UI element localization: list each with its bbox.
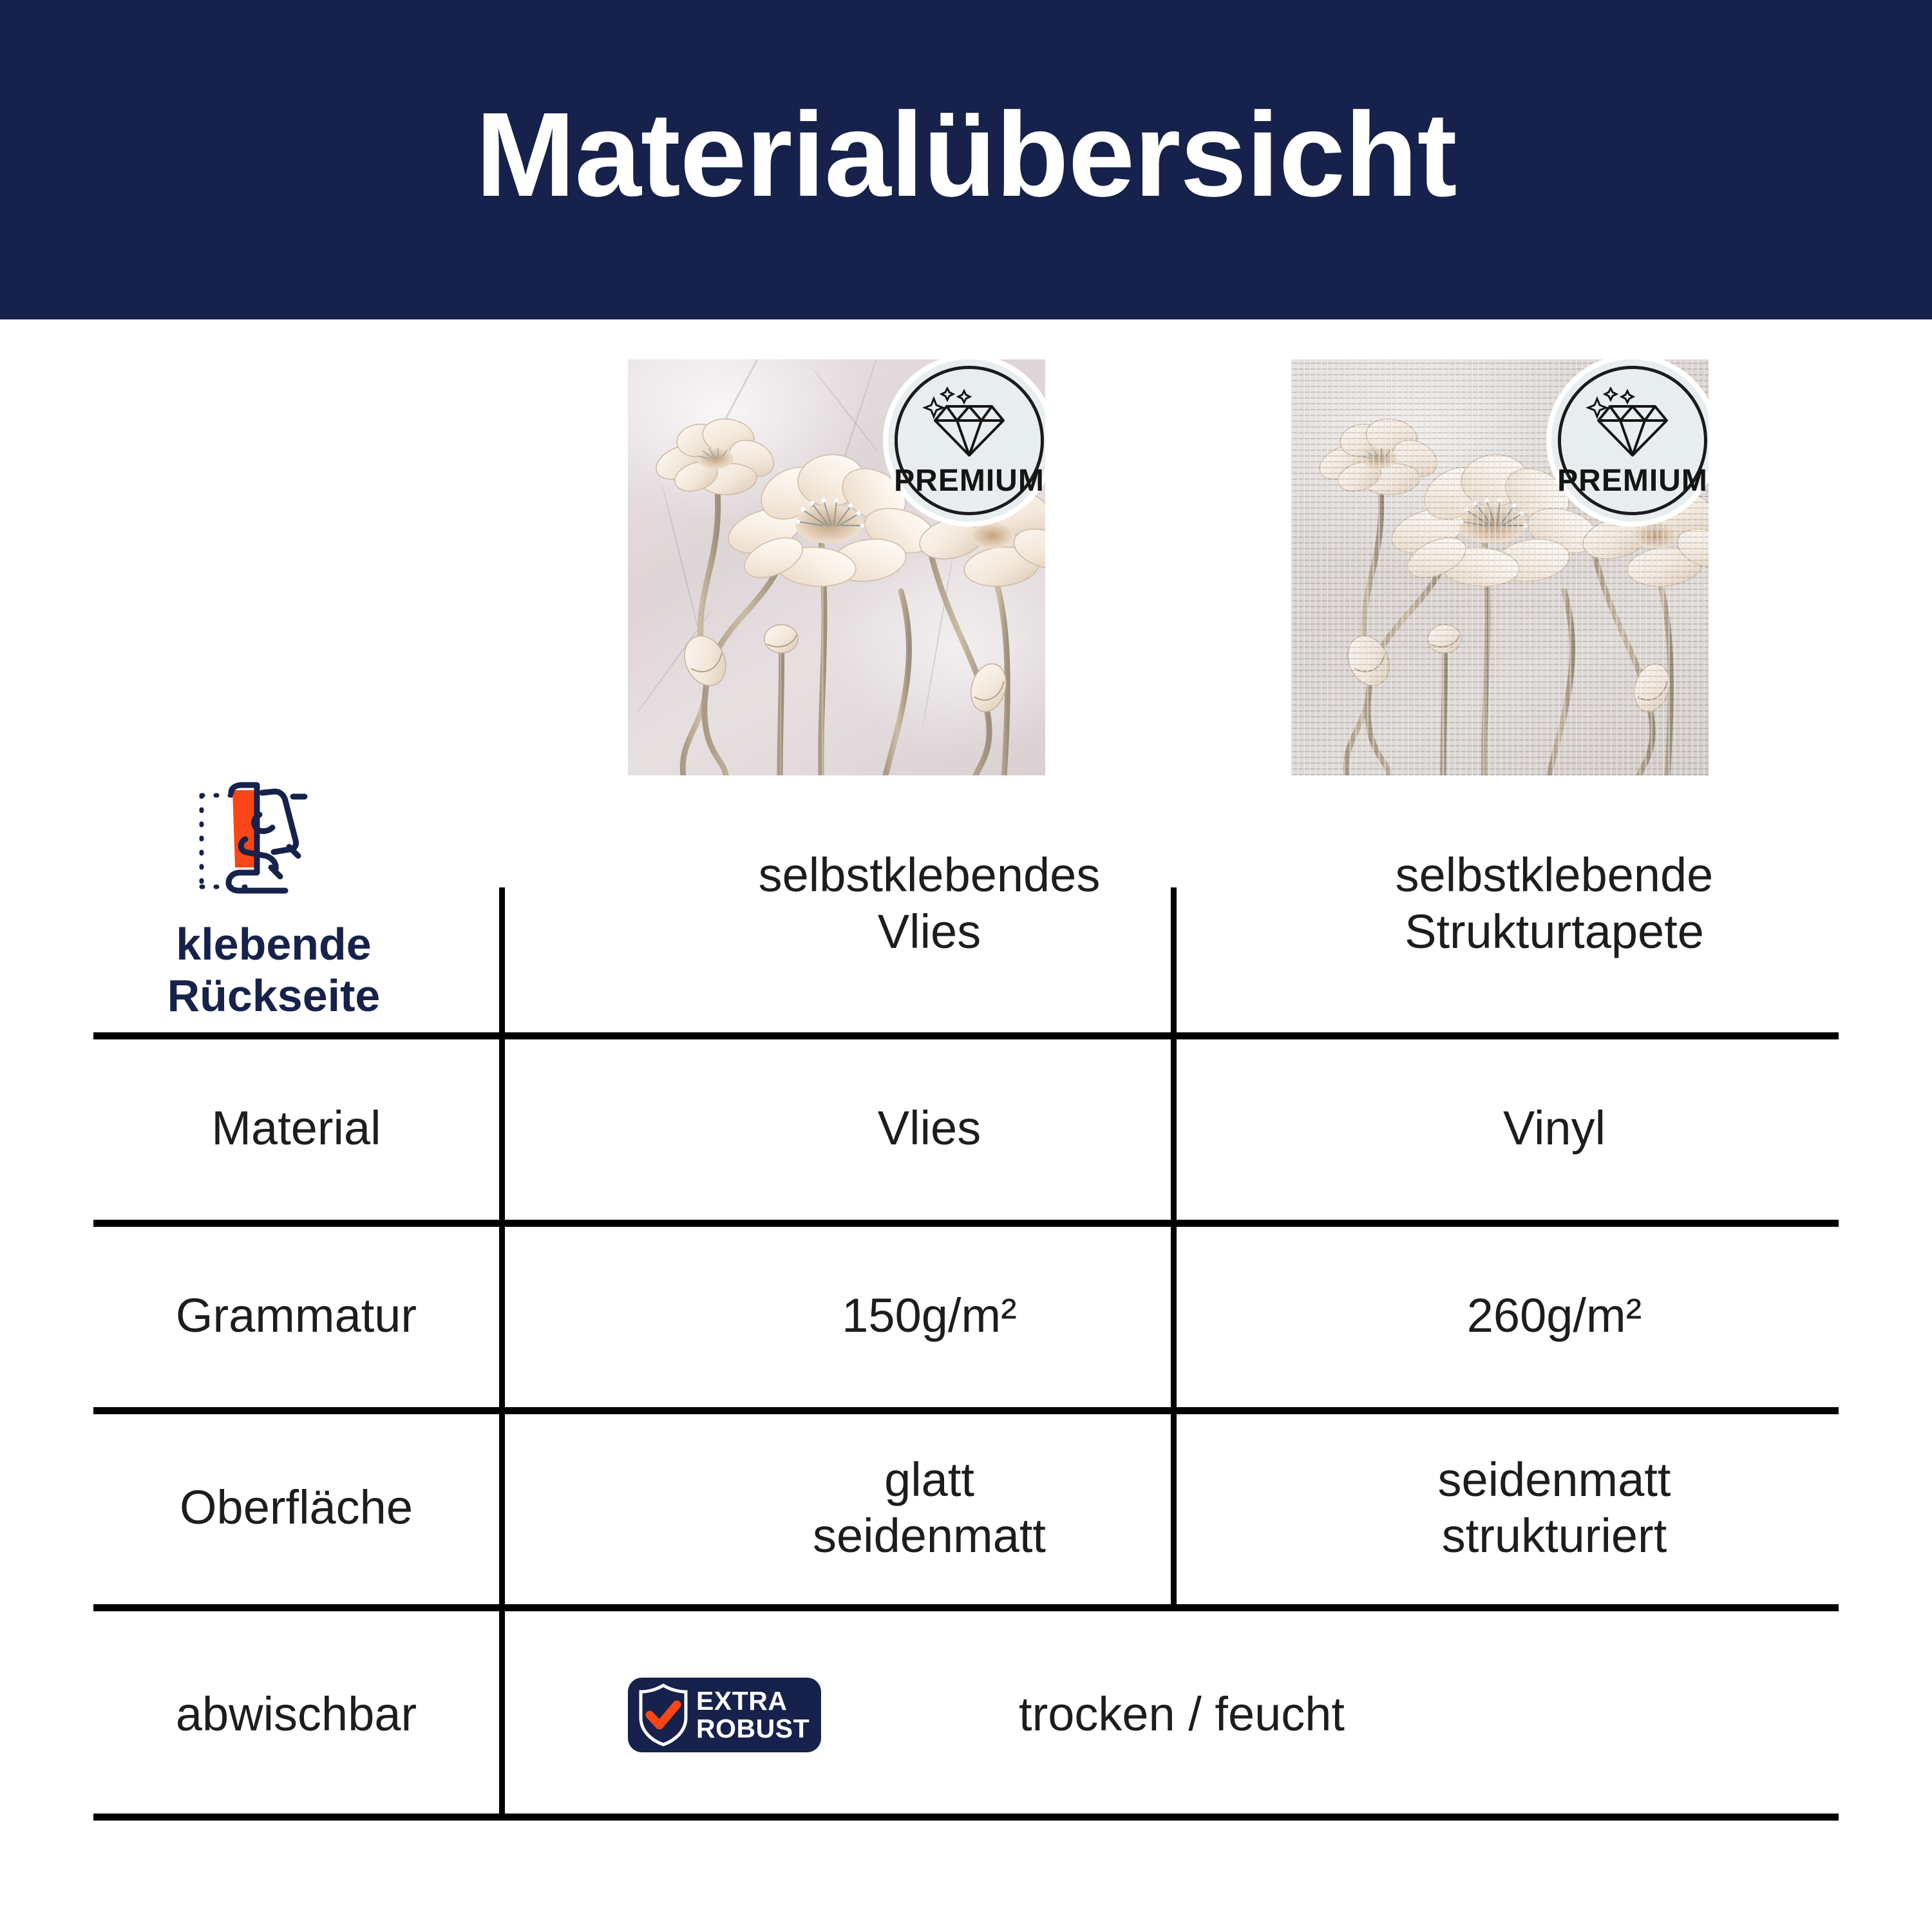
oberflaeche-col2-line1: glatt bbox=[884, 1452, 974, 1508]
row-value-oberflaeche-col2: glatt seidenmatt bbox=[600, 1411, 1259, 1604]
product-preview-vlies[interactable]: PREMIUM bbox=[628, 359, 1045, 775]
material-comparison-table: klebende Rückseite selbstklebendes Vlies… bbox=[93, 776, 1839, 1821]
row-value-grammatur-col3: 260g/m² bbox=[1270, 1224, 1839, 1407]
header-col2-line1: selbstklebendes bbox=[759, 847, 1101, 903]
row-label-material: Material bbox=[93, 1036, 499, 1220]
sticky-back-label-line1: klebende bbox=[167, 919, 381, 971]
premium-label: PREMIUM bbox=[894, 463, 1045, 498]
header-col3-line1: selbstklebende bbox=[1396, 847, 1714, 903]
extra-robust-line2: ROBUST bbox=[696, 1715, 810, 1743]
extra-robust-line1: EXTRA bbox=[696, 1687, 810, 1715]
row-value-grammatur-col2: 150g/m² bbox=[600, 1224, 1259, 1407]
page-header: Materialübersicht bbox=[0, 0, 1932, 319]
premium-label: PREMIUM bbox=[1557, 463, 1708, 498]
sticky-back-label-line2: Rückseite bbox=[167, 971, 381, 1022]
diamond-icon bbox=[1584, 387, 1681, 459]
row-label-oberflaeche: Oberfläche bbox=[93, 1411, 499, 1604]
table-header-col2: selbstklebendes Vlies bbox=[600, 770, 1259, 1037]
row-value-abwischbar-spanned: trocken / feucht bbox=[860, 1608, 1504, 1821]
row-label-grammatur: Grammatur bbox=[93, 1224, 499, 1407]
table-column-divider-2 bbox=[1171, 887, 1177, 1604]
header-col2-line2: Vlies bbox=[878, 904, 981, 960]
table-column-divider-1 bbox=[499, 887, 505, 1814]
oberflaeche-col2-line2: seidenmatt bbox=[813, 1508, 1046, 1564]
row-value-oberflaeche-col3: seidenmatt strukturiert bbox=[1270, 1411, 1839, 1604]
row-value-material-vlies: Vlies bbox=[600, 1036, 1259, 1220]
header-col3-line2: Strukturtapete bbox=[1405, 904, 1704, 960]
diamond-icon bbox=[921, 387, 1018, 459]
oberflaeche-col3-line2: strukturiert bbox=[1442, 1508, 1667, 1564]
row-label-abwischbar: abwischbar bbox=[93, 1608, 499, 1821]
oberflaeche-col3-line1: seidenmatt bbox=[1438, 1452, 1671, 1508]
extra-robust-label: EXTRA ROBUST bbox=[696, 1687, 810, 1743]
shield-check-icon bbox=[637, 1683, 690, 1747]
peel-sticker-hand-icon bbox=[190, 777, 357, 906]
table-header-col3: selbstklebende Strukturtapete bbox=[1270, 770, 1839, 1037]
product-preview-strukturtapete[interactable]: PREMIUM bbox=[1291, 359, 1709, 775]
sticky-back-feature: klebende Rückseite bbox=[80, 770, 467, 1037]
extra-robust-badge: EXTRA ROBUST bbox=[628, 1678, 821, 1752]
row-value-material-vinyl: Vinyl bbox=[1270, 1036, 1839, 1220]
page-title: Materialübersicht bbox=[0, 0, 1932, 319]
sticky-back-label: klebende Rückseite bbox=[167, 919, 381, 1022]
table-divider-5 bbox=[93, 1814, 1839, 1821]
